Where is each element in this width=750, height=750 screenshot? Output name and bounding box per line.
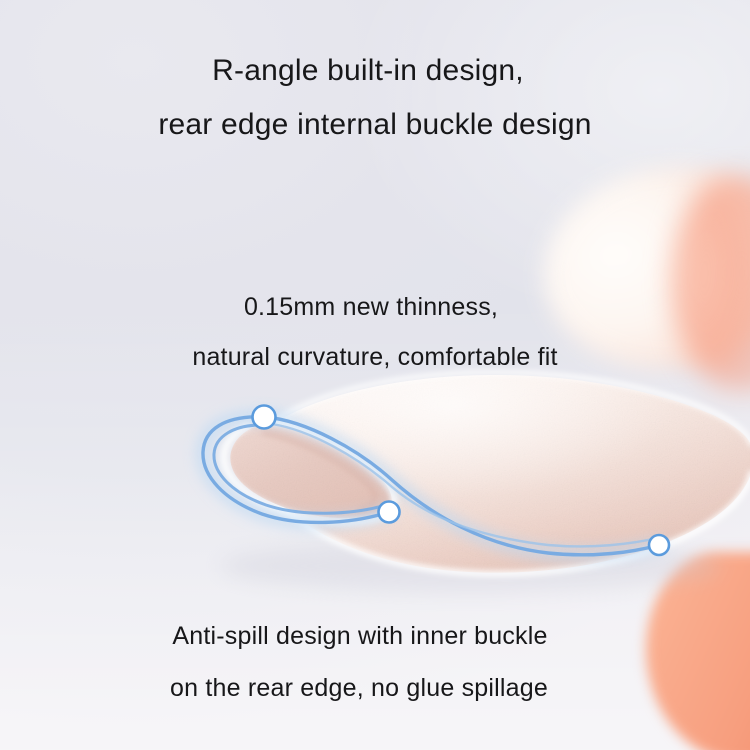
headline-bottom: Anti-spill design with inner buckle on t… bbox=[0, 610, 750, 714]
headline-top-line1: R-angle built-in design, bbox=[0, 44, 750, 98]
product-feature-image: R-angle built-in design, rear edge inter… bbox=[0, 0, 750, 750]
marker-buckle-end bbox=[379, 502, 400, 523]
marker-curl-tip bbox=[253, 406, 276, 429]
headline-middle-line1: 0.15mm new thinness, bbox=[0, 282, 750, 332]
marker-rear-edge bbox=[649, 535, 669, 555]
headline-bottom-line1: Anti-spill design with inner buckle bbox=[0, 610, 750, 662]
headline-bottom-line2: on the rear edge, no glue spillage bbox=[0, 662, 750, 714]
headline-top: R-angle built-in design, rear edge inter… bbox=[0, 44, 750, 152]
headline-top-line2: rear edge internal buckle design bbox=[0, 98, 750, 152]
headline-middle-line2: natural curvature, comfortable fit bbox=[0, 332, 750, 382]
headline-middle: 0.15mm new thinness, natural curvature, … bbox=[0, 282, 750, 382]
